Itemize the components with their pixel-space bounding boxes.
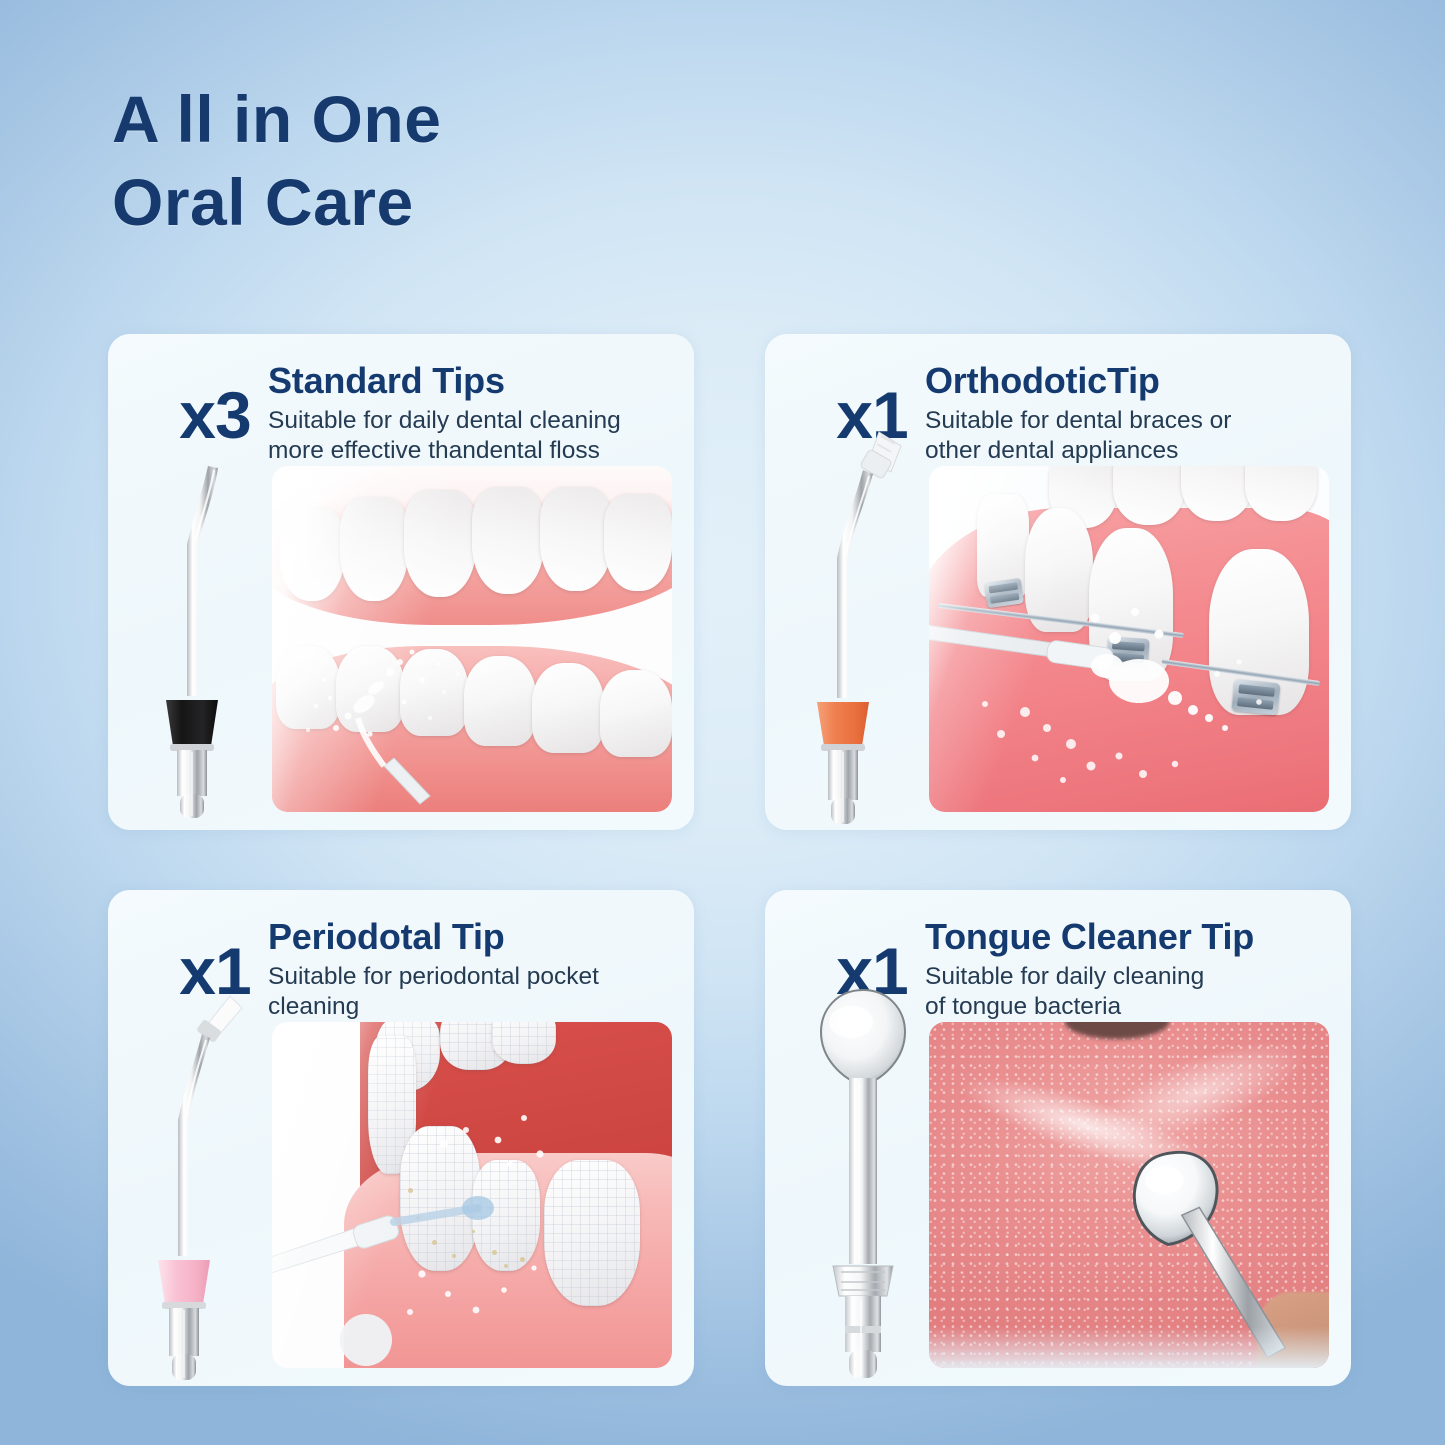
periodotal-tip-illustration [144, 982, 268, 1382]
orthodotic-tip-icon [801, 426, 925, 826]
card-description: Suitable for dental braces or other dent… [925, 406, 1231, 467]
standard-tips-photo [272, 466, 672, 812]
periodontal-jet-graphic [272, 1022, 672, 1368]
water-spray-graphic [929, 466, 1329, 812]
periodotal-tip-photo [272, 1022, 672, 1368]
quantity-badge: x3 [156, 382, 274, 448]
feature-card-orthodotic-tip: x1 OrthodoticTip Suitable for dental bra… [765, 334, 1351, 830]
standard-tip-icon [144, 460, 268, 820]
card-title: Periodotal Tip [268, 916, 505, 958]
page-title: A ll in One Oral Care [112, 78, 441, 244]
card-title: Standard Tips [268, 360, 505, 402]
card-description: Suitable for daily dental cleaning more … [268, 406, 621, 467]
standard-tip-illustration [144, 460, 268, 820]
feature-card-periodotal-tip: x1 Periodotal Tip Suitable for periodont… [108, 890, 694, 1386]
infographic-root: A ll in One Oral Care x3 Standard Tips S… [0, 0, 1445, 1445]
feature-card-standard-tips: x3 Standard Tips Suitable for daily dent… [108, 334, 694, 830]
tongue-scraper-graphic [1121, 1147, 1305, 1362]
orthodotic-tip-photo [929, 466, 1329, 812]
card-title: OrthodoticTip [925, 360, 1160, 402]
feature-card-tongue-cleaner-tip: x1 Tongue Cleaner Tip Suitable for daily… [765, 890, 1351, 1386]
tongue-cleaner-photo [929, 1022, 1329, 1368]
periodotal-tip-icon [144, 982, 268, 1382]
tongue-cleaner-tip-icon [801, 982, 925, 1382]
card-description: Suitable for daily cleaning of tongue ba… [925, 962, 1204, 1023]
orthodotic-tip-illustration [801, 426, 925, 826]
water-jet-graphic [272, 466, 672, 812]
card-description: Suitable for periodontal pocket cleaning [268, 962, 599, 1023]
card-title: Tongue Cleaner Tip [925, 916, 1254, 958]
tongue-cleaner-tip-illustration [801, 982, 925, 1382]
